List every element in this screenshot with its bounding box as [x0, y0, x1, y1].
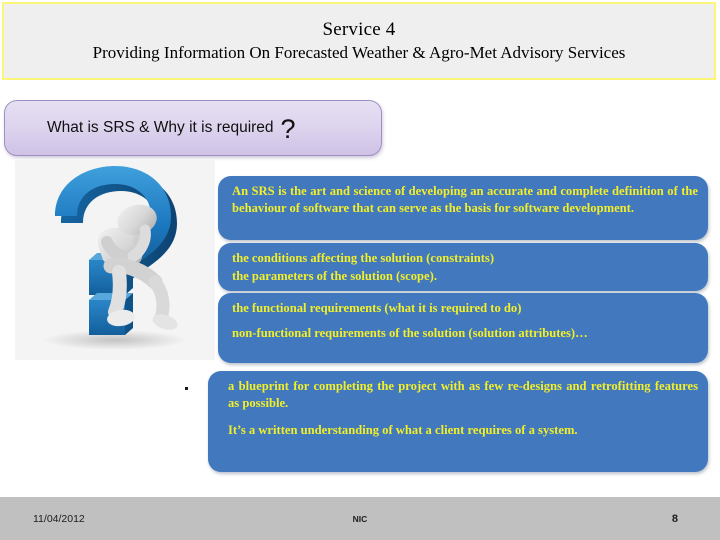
- content-paragraph: the functional requirements (what it is …: [232, 300, 698, 317]
- content-paragraph: It’s a written understanding of what a c…: [222, 422, 698, 439]
- bullet-dot-icon: [185, 387, 188, 390]
- page-title: Service 4: [322, 19, 395, 41]
- content-box-definition: An SRS is the art and science of develop…: [218, 176, 708, 240]
- content-paragraph: non-functional requirements of the solut…: [232, 325, 698, 342]
- question-mark-glyph: ?: [281, 116, 296, 143]
- slide-footer: 11/04/2012 NIC 8: [0, 497, 720, 540]
- content-box-blueprint: a blueprint for completing the project w…: [208, 371, 708, 472]
- content-box-requirements: the functional requirements (what it is …: [218, 293, 708, 363]
- thinking-person-question-mark-image: [15, 160, 215, 360]
- content-paragraph: the parameters of the solution (scope).: [232, 268, 698, 285]
- content-box-conditions: the conditions affecting the solution (c…: [218, 243, 708, 291]
- content-paragraph: a blueprint for completing the project w…: [222, 378, 698, 413]
- content-paragraph: An SRS is the art and science of develop…: [232, 183, 698, 218]
- question-mark-illustration-svg: [15, 160, 215, 360]
- footer-organization: NIC: [0, 514, 720, 524]
- content-paragraph: the conditions affecting the solution (c…: [232, 250, 698, 267]
- question-callout-label: What is SRS & Why it is required: [47, 119, 274, 137]
- question-callout: What is SRS & Why it is required ?: [4, 100, 382, 156]
- page-subtitle: Providing Information On Forecasted Weat…: [93, 43, 626, 63]
- footer-page-number: 8: [672, 513, 678, 525]
- slide-header: Service 4 Providing Information On Forec…: [2, 2, 716, 80]
